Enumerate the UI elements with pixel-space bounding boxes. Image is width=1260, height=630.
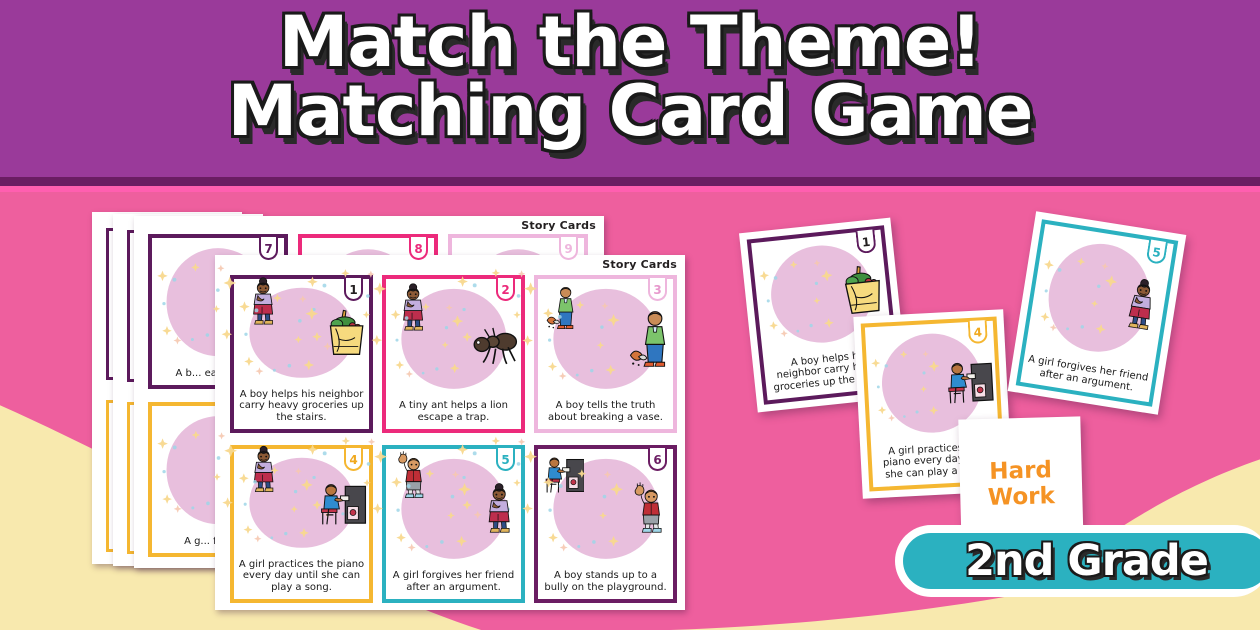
sparkle-stars-icon [538,279,625,398]
card-caption: A girl forgives her friend after an argu… [386,568,521,599]
grade-badge-label: 2nd Grade [965,536,1208,586]
boy-broken-vase-icon [625,299,673,379]
sparkle-stars-icon [538,449,629,568]
sparkle-stars-icon [152,406,243,534]
girl-forgiving-icon [477,469,521,549]
card-number: 1 [861,235,871,250]
grade-badge-wrapper: 2nd Grade [895,525,1260,597]
sheet-label: Story Cards [602,258,677,271]
sparkle-stars-icon [751,235,845,359]
boy-waving-stop-icon [629,469,673,549]
piano-player-icon [318,465,369,541]
sparkle-stars-icon [234,449,318,557]
sparkle-stars-icon [386,279,468,398]
card-number: 5 [501,453,509,467]
card-number: 8 [414,242,422,256]
sparkle-stars-icon [152,238,242,366]
story-card-6[interactable]: 6 A boy stands up to a bully on the play… [534,445,677,603]
header-banner: Match the Theme! Matching Card Game [0,0,1260,186]
card-number-badge: 8 [409,237,428,260]
piano-player-icon [943,340,998,423]
card-number: 9 [564,242,572,256]
card-number: 5 [1151,245,1161,260]
story-card-3[interactable]: 3 A boy tells the truth about breaking a… [534,275,677,433]
card-caption: A boy stands up to a bully on the playgr… [538,568,673,599]
sparkle-stars-icon [865,323,948,444]
floating-story-card-5[interactable]: 5 A girl forgives her friend after an ar… [1008,211,1187,415]
card-number-badge: 4 [344,448,363,471]
card-number-badge: 7 [259,237,278,260]
story-card-5[interactable]: 5 A girl forgives her friend after an ar… [382,445,525,603]
theme-card-line-2: Work [988,483,1056,511]
card-number-badge: 1 [344,278,363,301]
sparkle-stars-icon [386,449,477,568]
theme-card-label: Hard Work [987,457,1055,512]
card-number-badge: 5 [496,448,515,471]
card-number: 7 [264,242,272,256]
card-number: 1 [349,283,357,297]
story-card-sheet-front: Story Cards 1 A boy helps his neighbor c… [215,255,685,610]
card-number: 6 [653,453,661,467]
card-number: 4 [973,325,982,339]
card-number-badge: 6 [648,448,667,471]
card-number: 4 [349,453,357,467]
card-number-badge: 4 [968,320,988,344]
story-card-5-cut[interactable]: 5 A girl forgives her friend after an ar… [1016,219,1179,407]
card-caption: A boy tells the truth about breaking a v… [538,398,673,429]
sheet-label: Story Cards [521,219,596,232]
card-number: 3 [653,283,661,297]
sparkle-stars-icon [234,279,324,387]
card-number-badge: 3 [648,278,667,301]
title-line-2: Matching Card Game [0,77,1260,146]
status-badge: 2nd Grade [903,533,1260,589]
card-number-badge: 9 [559,237,578,260]
pink-divider-band [0,186,1260,192]
card-caption: A girl practices the piano every day unt… [234,557,369,599]
theme-card-line-1: Hard [989,457,1052,485]
story-card-4[interactable]: 4 A girl practices the piano every day u… [230,445,373,603]
page-title: Match the Theme! Matching Card Game [0,8,1260,147]
ant-icon [468,302,521,376]
card-number: 2 [501,283,509,297]
card-number-badge: 2 [496,278,515,301]
grocery-bag-icon [324,295,369,371]
